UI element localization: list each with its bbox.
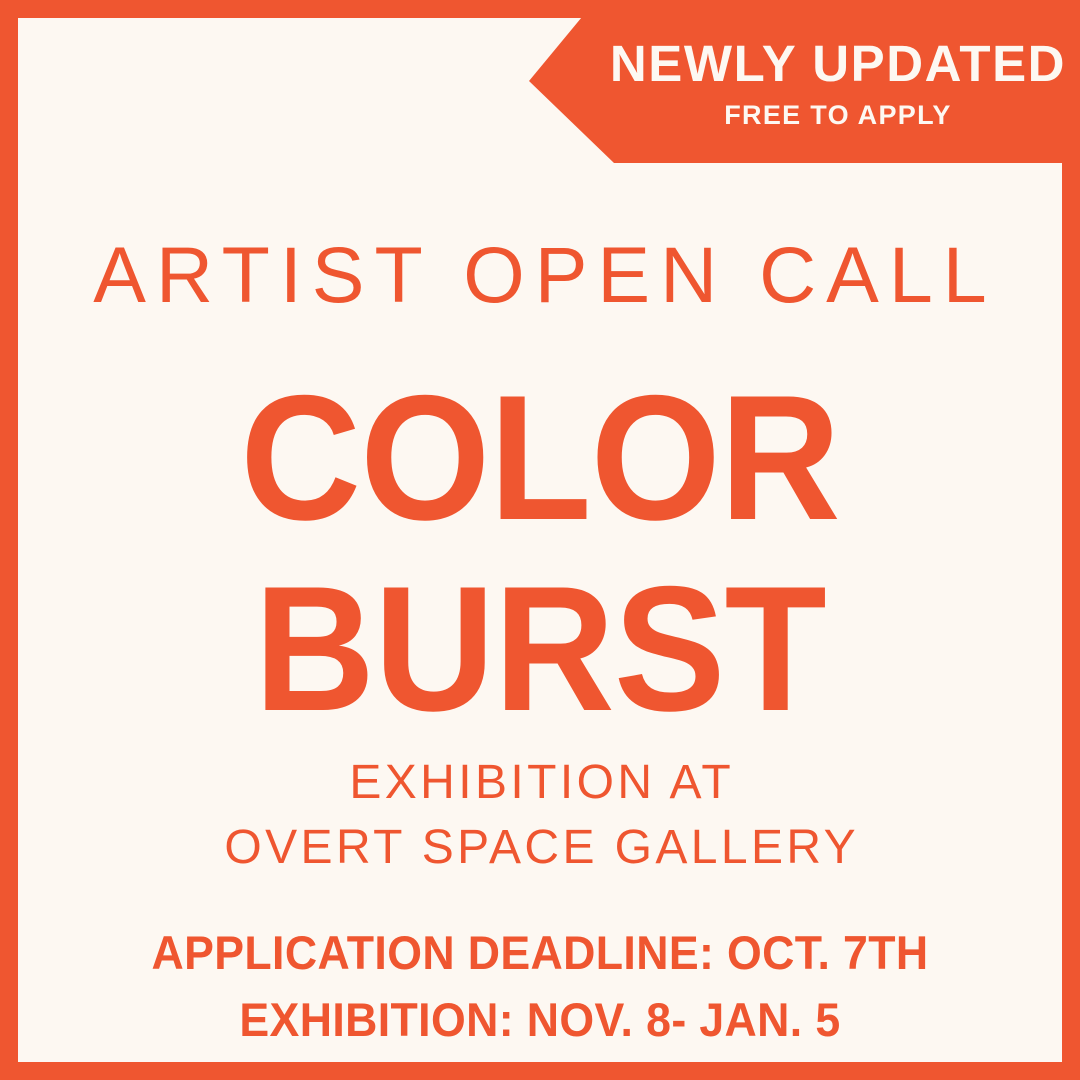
ribbon-headline: NEWLY UPDATED (610, 38, 1066, 89)
poster-content: ARTIST OPEN CALL COLOR BURST EXHIBITION … (18, 163, 1062, 1062)
exhibition-dates-line: EXHIBITION: NOV. 8- JAN. 5 (44, 996, 1036, 1043)
open-call-poster: NEWLY UPDATED FREE TO APPLY ARTIST OPEN … (0, 0, 1080, 1080)
ribbon-subline: FREE TO APPLY (724, 102, 951, 129)
display-title-line-2: BURST (49, 564, 1030, 733)
display-title-group: COLOR BURST (18, 373, 1062, 733)
eyebrow-heading: ARTIST OPEN CALL (18, 235, 1062, 314)
dates-group: APPLICATION DEADLINE: OCT. 7TH EXHIBITIO… (18, 929, 1062, 1043)
venue-line-1: EXHIBITION AT (18, 759, 1062, 807)
display-title-line-1: COLOR (49, 373, 1030, 542)
ribbon-text-group: NEWLY UPDATED FREE TO APPLY (614, 0, 1062, 163)
venue-line-2: OVERT SPACE GALLERY (18, 824, 1062, 872)
venue-group: EXHIBITION AT OVERT SPACE GALLERY (18, 759, 1062, 872)
application-deadline-line: APPLICATION DEADLINE: OCT. 7TH (44, 929, 1036, 976)
